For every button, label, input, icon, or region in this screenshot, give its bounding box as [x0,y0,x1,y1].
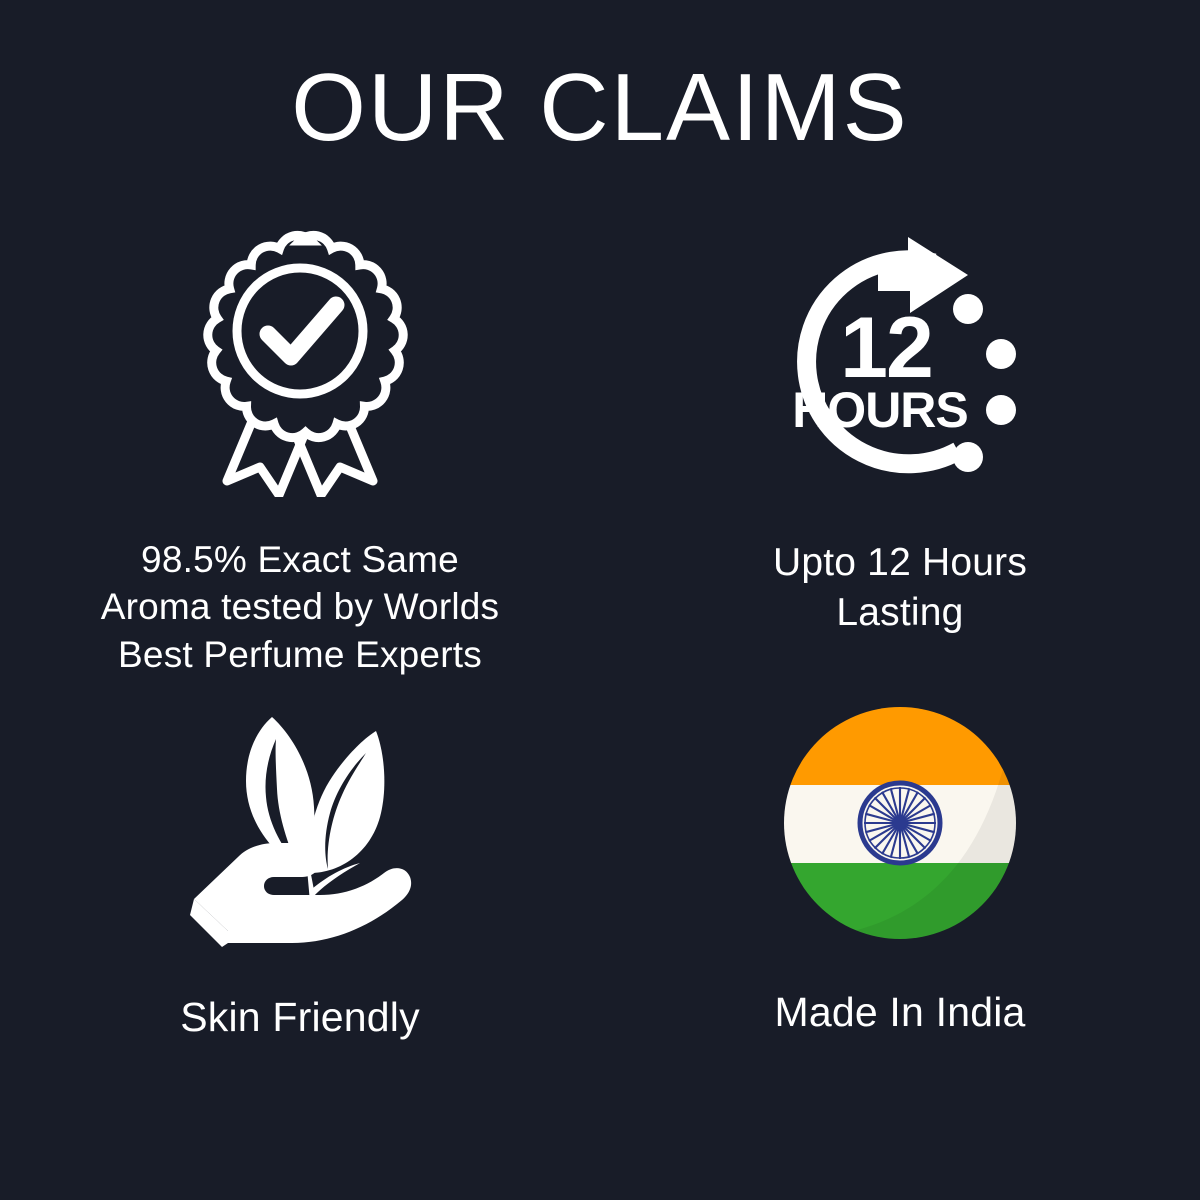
claim-label-made-in-india: Made In India [774,986,1025,1038]
claim-label-quality-badge: 98.5% Exact Same Aroma tested by Worlds … [101,536,500,678]
claim-label-line: Aroma tested by Worlds [101,583,500,630]
claim-label-line: Lasting [773,588,1027,638]
claim-label-line: 98.5% Exact Same [101,536,500,583]
india-flag-circle-icon [784,707,1016,944]
svg-text:HOURS: HOURS [792,382,968,438]
page-title: OUR CLAIMS [0,58,1200,159]
claim-label-line: Best Perfume Experts [101,631,500,678]
hand-holding-plant-icon [180,703,420,953]
award-ribbon-check-icon [180,227,420,502]
claim-label-line: Made In India [774,986,1025,1038]
claim-label-line: Upto 12 Hours [773,538,1027,588]
claims-grid: 98.5% Exact Same Aroma tested by Worlds … [0,215,1200,1145]
claim-label-line: Skin Friendly [180,991,420,1043]
clock-arrow-12-hours-icon: 12 HOURS [758,227,1043,502]
claim-item-skin-friendly: Skin Friendly [0,675,600,1135]
claim-item-quality-badge: 98.5% Exact Same Aroma tested by Worlds … [0,215,600,675]
claim-item-made-in-india: Made In India [600,675,1200,1135]
claim-item-long-lasting: 12 HOURS Upto 12 Hours Lasting [600,215,1200,675]
claim-label-skin-friendly: Skin Friendly [180,991,420,1043]
claim-label-long-lasting: Upto 12 Hours Lasting [773,538,1027,638]
our-claims-poster: OUR CLAIMS 98.5 [0,0,1200,1200]
